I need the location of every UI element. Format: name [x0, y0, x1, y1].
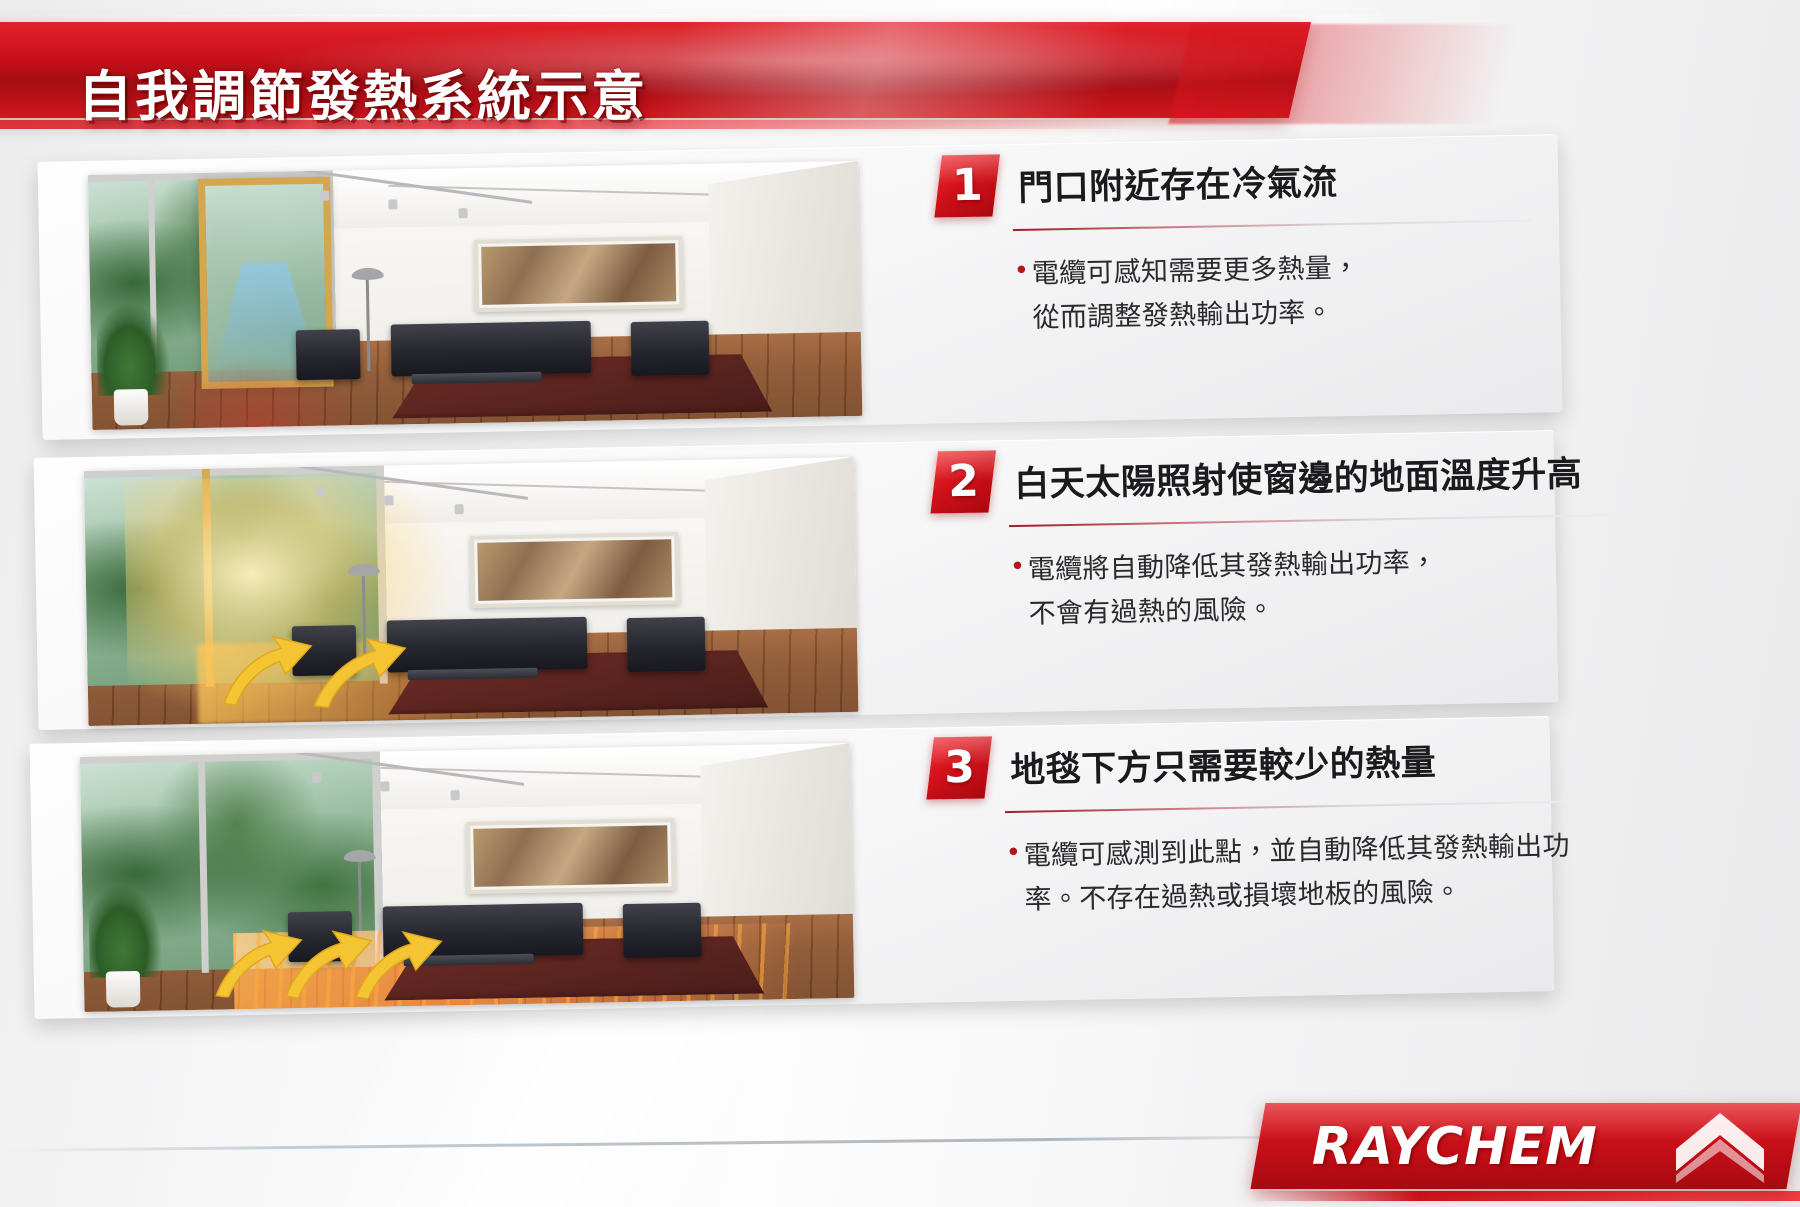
banner-tail: [1168, 24, 1611, 124]
heat-arrow-icon: [215, 628, 316, 708]
wall-picture: [474, 236, 683, 312]
brand-name: RAYCHEM: [1312, 1117, 1598, 1177]
page-title: 自我調節發熱系統示意: [78, 52, 648, 131]
bullet-dot-icon: •: [1005, 835, 1025, 923]
floor-lamp-shade: [344, 850, 376, 863]
heat-arrow-icon: [349, 925, 446, 999]
illustration-3: [80, 743, 855, 1012]
picture-art: [473, 825, 668, 887]
illustration-2: [84, 457, 859, 726]
body-line: 從而調整發熱輸出功率。: [1032, 291, 1360, 341]
section-divider-3: [1005, 801, 1565, 813]
spot-light: [451, 790, 460, 800]
sofa: [391, 321, 592, 377]
plant-leaves: [96, 303, 170, 396]
body-line: 不會有過熱的風險。: [1028, 585, 1438, 636]
wall-picture: [466, 818, 675, 894]
body-line: 率。不存在過熱或損壞地板的風險。: [1024, 869, 1571, 923]
spot-light: [380, 781, 389, 791]
section-text-3: 3 地毯下方只需要較少的熱量 • 電纜可感測到此點，並自動降低其發熱輸出功 率。…: [930, 726, 1573, 925]
section-panel-1: 1 門口附近存在冷氣流 • 電纜可感知需要更多熱量， 從而調整發熱輸出功率。: [38, 134, 1563, 440]
armchair-right: [627, 617, 706, 672]
step-number-2: 2: [948, 460, 979, 505]
section-divider-2: [1009, 514, 1609, 527]
section-text-2: 2 白天太陽照射使窗邊的地面溫度升高 • 電纜將自動降低其發熱輸出功率， 不會有…: [934, 440, 1577, 639]
step-number-badge-2: 2: [930, 450, 996, 513]
spot-light: [458, 208, 467, 218]
body-line: 電纜可感知需要更多熱量，: [1031, 247, 1359, 297]
section-bullet-3: • 電纜可感測到此點，並自動降低其發熱輸出功 率。不存在過熱或損壞地板的風險。: [1005, 825, 1573, 923]
armchair-right: [623, 903, 702, 958]
sofa: [387, 617, 588, 673]
section-title-1: 門口附近存在冷氣流: [1018, 154, 1338, 211]
plant-pot: [106, 971, 141, 1008]
raychem-logo: RAYCHEM: [1250, 1103, 1800, 1189]
step-number-badge-1: 1: [934, 154, 1000, 217]
section-header-2: 2 白天太陽照射使窗邊的地面溫度升高: [934, 440, 1575, 514]
plant-pot: [114, 389, 149, 426]
step-number-3: 3: [943, 746, 974, 791]
armchair-left: [296, 329, 361, 380]
chevron-up-icon: [1672, 1109, 1768, 1183]
picture-art: [481, 243, 676, 305]
section-title-3: 地毯下方只需要較少的熱量: [1010, 734, 1437, 793]
picture-art: [477, 539, 672, 601]
body-line: 電纜將自動降低其發熱輸出功率，: [1027, 541, 1437, 592]
spot-light: [388, 199, 397, 209]
step-number-1: 1: [951, 164, 982, 209]
section-title-2: 白天太陽照射使窗邊的地面溫度升高: [1014, 445, 1583, 506]
step-number-badge-3: 3: [926, 736, 992, 799]
section-panel-2: 2 白天太陽照射使窗邊的地面溫度升高 • 電纜將自動降低其發熱輸出功率， 不會有…: [34, 430, 1559, 730]
section-text-1: 1 門口附近存在冷氣流 • 電纜可感知需要更多熱量， 從而調整發熱輸出功率。: [938, 144, 1581, 343]
floor-lamp-shade: [352, 268, 384, 281]
floor-lamp-shade: [348, 564, 380, 577]
section-divider-1: [1013, 220, 1533, 232]
logo-underbar: [1249, 1191, 1800, 1201]
section-bullet-1: • 電纜可感知需要更多熱量， 從而調整發熱輸出功率。: [1013, 243, 1581, 341]
bullet-dot-icon: •: [1009, 549, 1029, 637]
spot-light: [312, 773, 321, 783]
section-header-1: 1 門口附近存在冷氣流: [938, 144, 1579, 218]
illustration-1: [88, 161, 863, 430]
spot-light: [384, 495, 393, 505]
spot-light: [316, 487, 325, 497]
bullet-dot-icon: •: [1013, 253, 1033, 341]
section-bullet-2: • 電纜將自動降低其發熱輸出功率， 不會有過熱的風險。: [1009, 539, 1577, 637]
section-body-3: 電纜可感測到此點，並自動降低其發熱輸出功 率。不存在過熱或損壞地板的風險。: [1023, 825, 1571, 923]
section-header-3: 3 地毯下方只需要較少的熱量: [930, 726, 1571, 800]
section-panel-3: 3 地毯下方只需要較少的熱量 • 電纜可感測到此點，並自動降低其發熱輸出功 率。…: [30, 716, 1555, 1019]
heat-arrow-icon: [305, 628, 411, 708]
armchair-right: [631, 321, 710, 376]
plant-leaves: [88, 885, 162, 978]
wall-picture: [470, 532, 679, 608]
spot-light: [455, 504, 464, 514]
section-body-1: 電纜可感知需要更多熱量， 從而調整發熱輸出功率。: [1031, 247, 1360, 341]
section-body-2: 電纜將自動降低其發熱輸出功率， 不會有過熱的風險。: [1027, 541, 1438, 636]
spot-light: [320, 191, 329, 201]
